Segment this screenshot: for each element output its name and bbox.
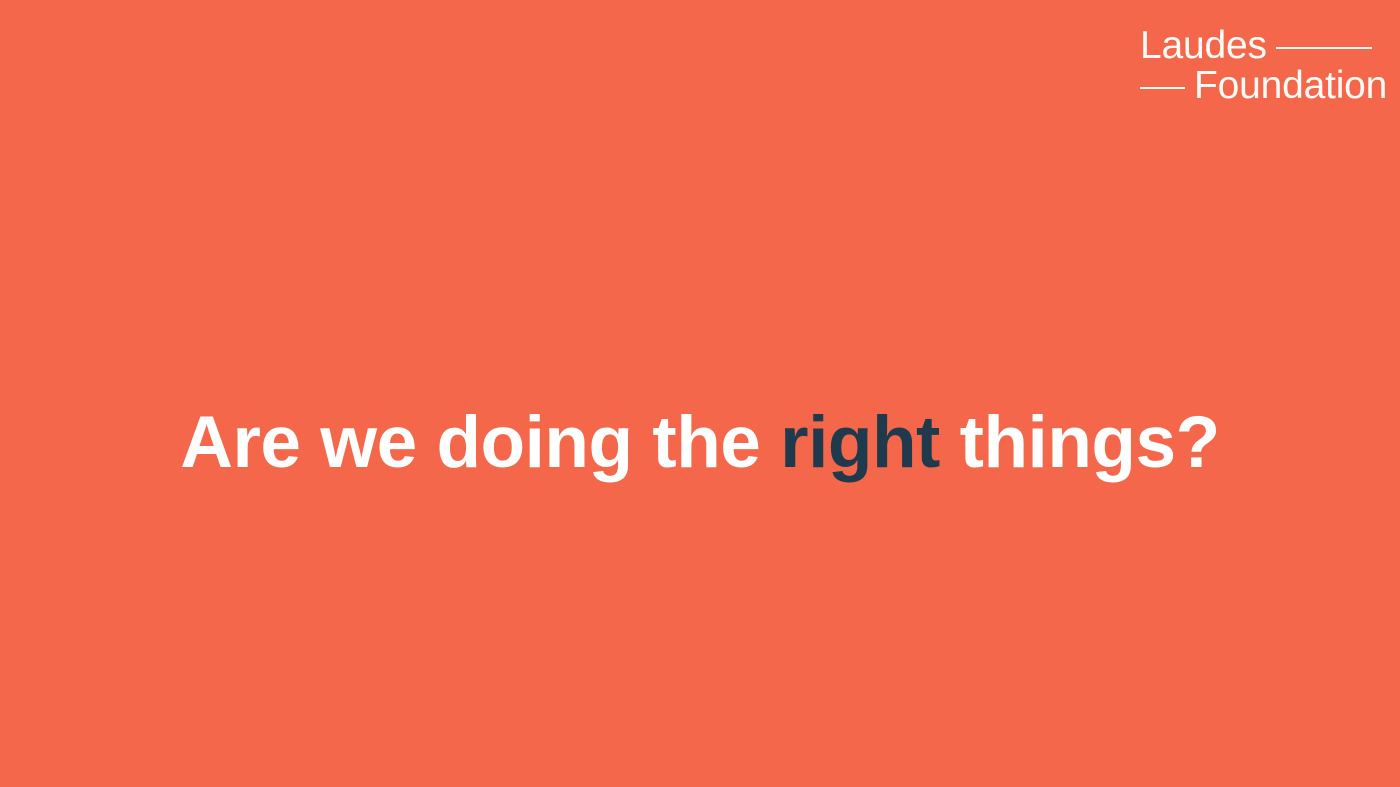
presentation-slide: Laudes Foundation Are we doing the right… <box>0 0 1400 787</box>
laudes-foundation-logo: Laudes Foundation <box>1140 26 1372 106</box>
logo-line-two: Foundation <box>1140 66 1372 106</box>
headline-text-emphasis: right <box>780 402 940 483</box>
logo-wordmark-laudes: Laudes <box>1140 26 1267 66</box>
logo-rule-top-icon <box>1276 47 1372 49</box>
headline-container: Are we doing the right things? <box>0 344 1400 542</box>
headline-text-leading: Are we doing the <box>180 402 780 483</box>
logo-rule-bottom-icon <box>1140 87 1185 89</box>
logo-line-one: Laudes <box>1140 26 1372 66</box>
slide-headline: Are we doing the right things? <box>180 393 1219 493</box>
headline-text-trailing: things? <box>940 402 1220 483</box>
logo-wordmark-foundation: Foundation <box>1194 66 1387 106</box>
